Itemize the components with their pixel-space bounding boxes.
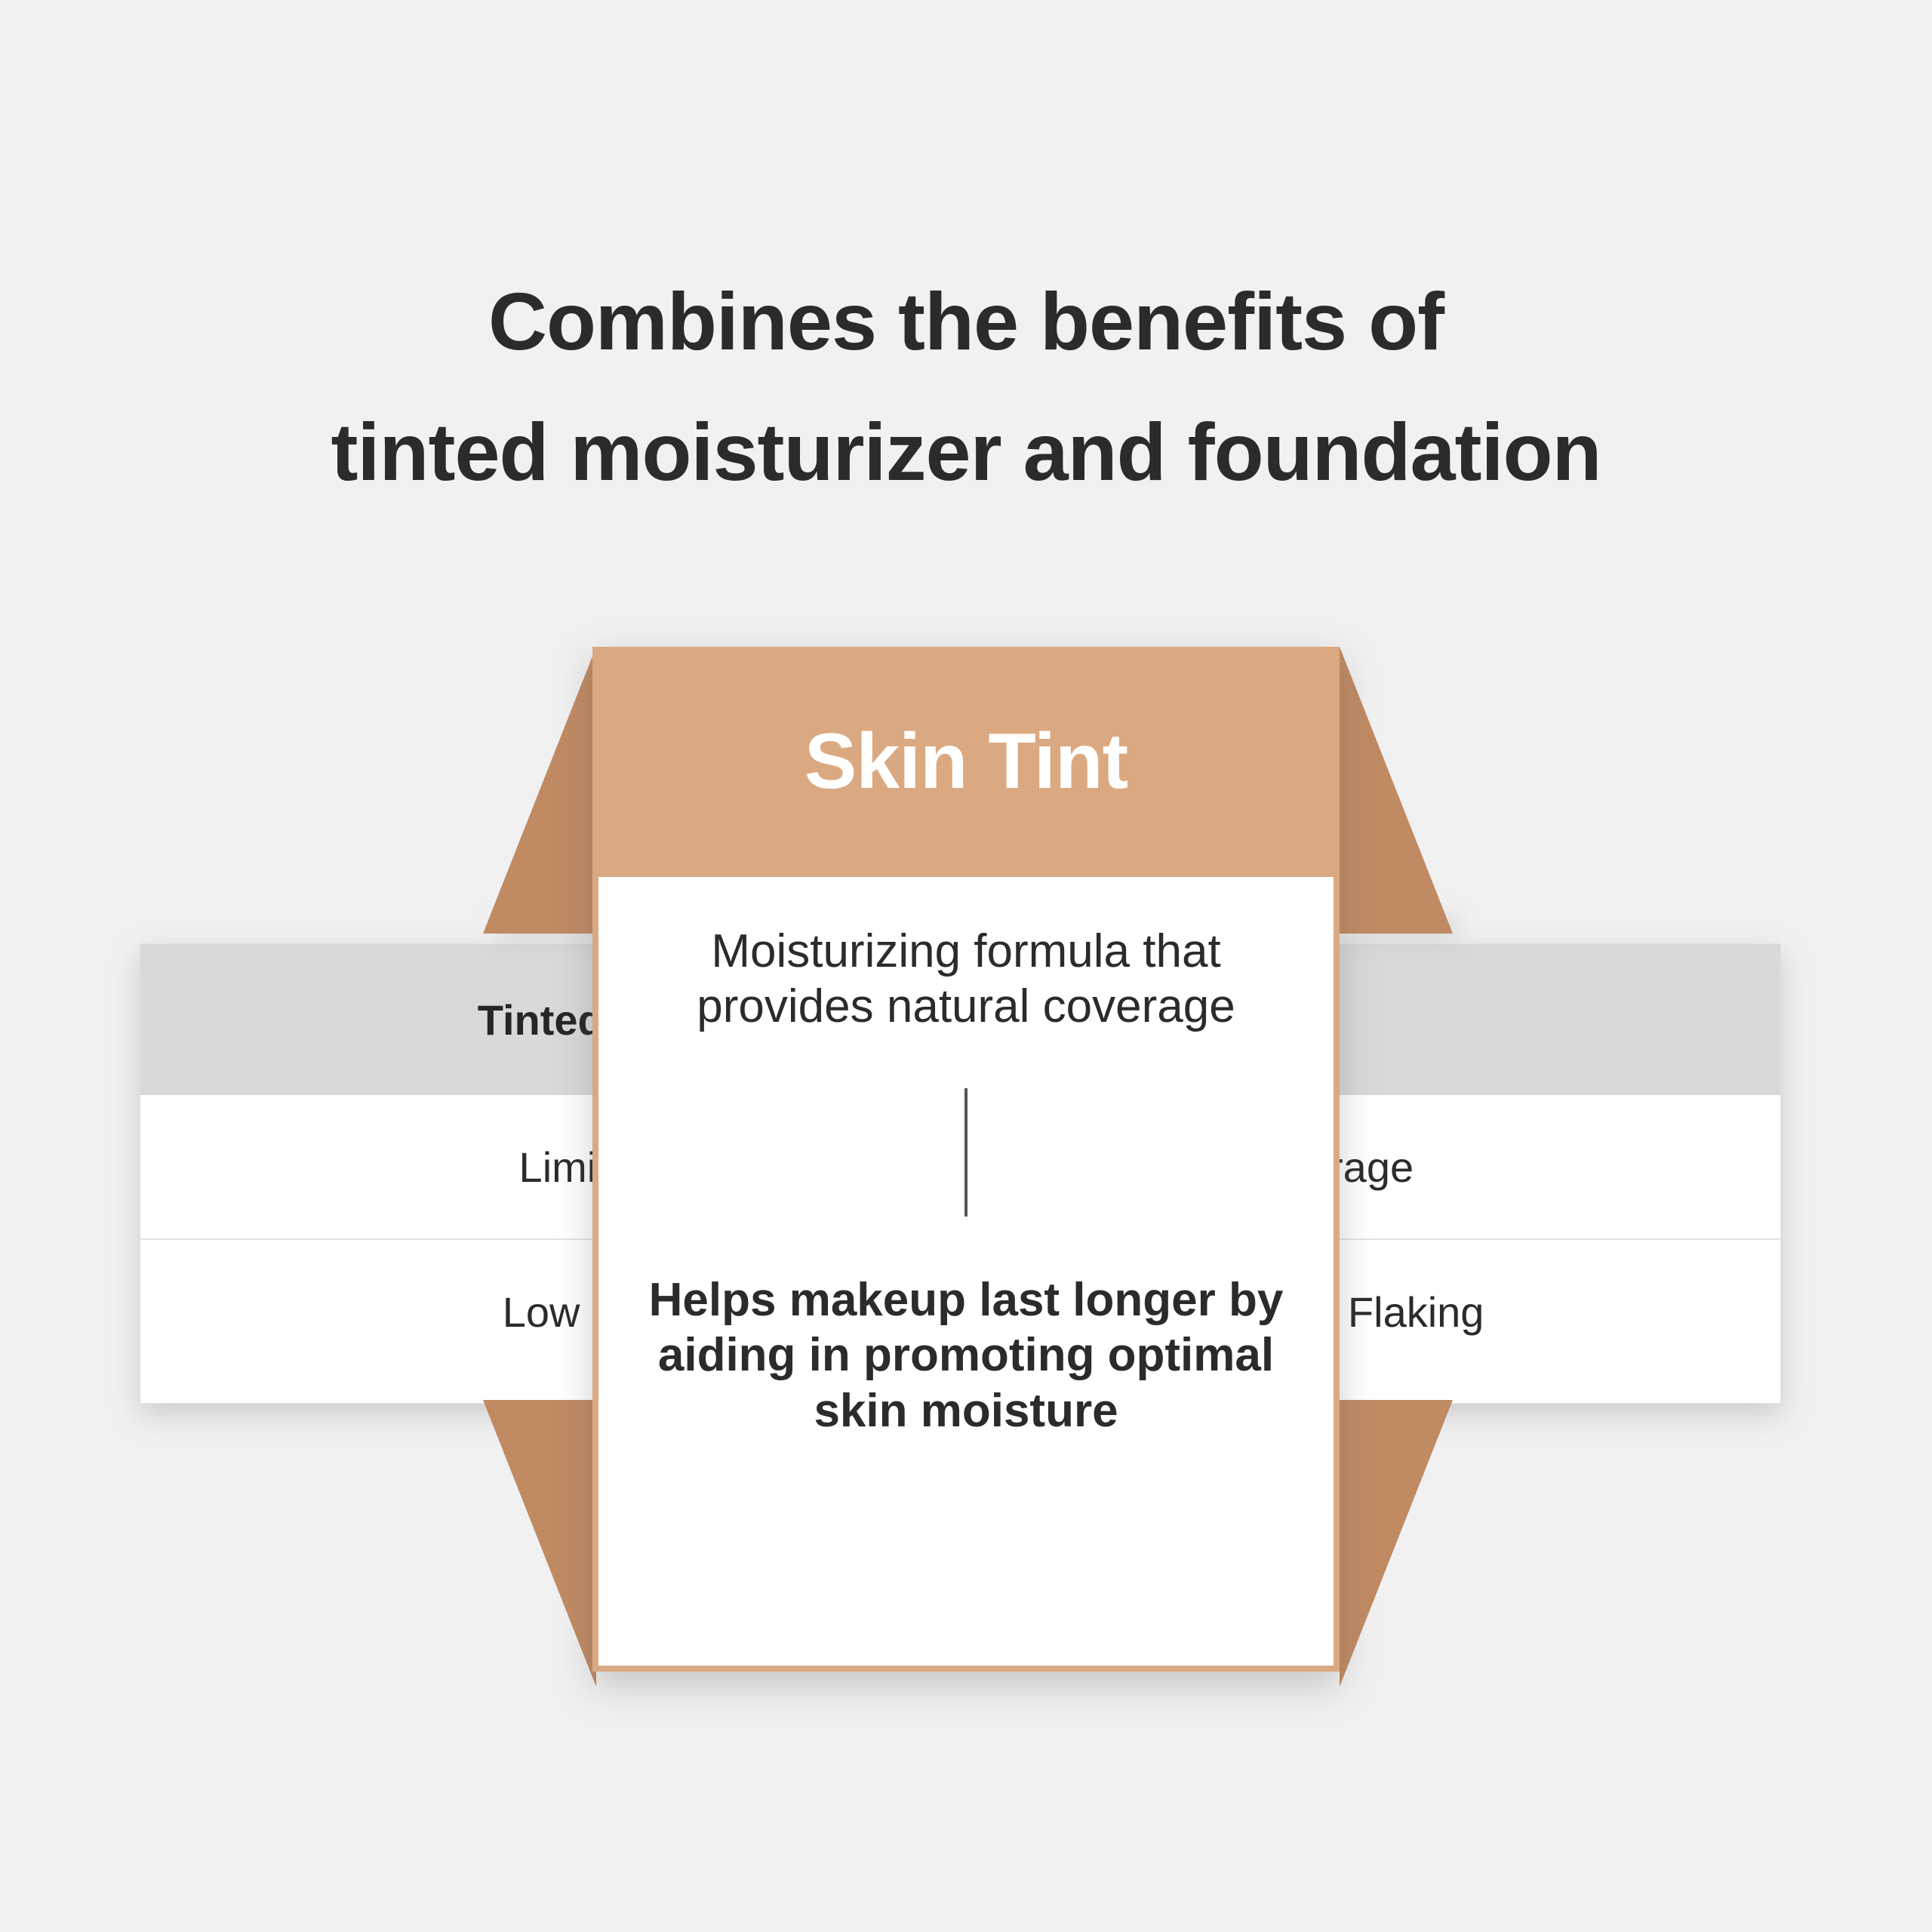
table-row: Limited coverage (140, 1095, 599, 1238)
card-skin-tint-bold-text: Helps makeup last longer by aiding in pr… (634, 1272, 1298, 1438)
card-foundation-row-0: Heavy Coverage (1332, 1143, 1414, 1192)
card-tinted-moisturizer: Tinted Moisturizer Limited coverage Low … (140, 943, 600, 1404)
card-skin-tint-header-label: Skin Tint (804, 717, 1128, 807)
infographic-canvas: Combines the benefits of tinted moisturi… (0, 0, 1932, 1932)
vertical-divider (964, 1088, 968, 1217)
table-row: Low lasting power (140, 1238, 599, 1383)
card-foundation-row-1: Dryness and Flaking (1332, 1287, 1484, 1337)
page-title: Combines the benefits of tinted moisturi… (0, 257, 1932, 518)
card-skin-tint: Skin Tint Moisturizing formula that prov… (592, 647, 1340, 1672)
wing-bottom-left-icon (483, 1400, 596, 1687)
card-tinted-moisturizer-header: Tinted Moisturizer (140, 944, 599, 1095)
wing-top-left-icon (483, 647, 596, 934)
card-skin-tint-lead-text: Moisturizing formula that provides natur… (634, 924, 1298, 1034)
table-row: Heavy Coverage (1333, 1095, 1780, 1238)
card-tinted-moisturizer-row-0: Limited coverage (519, 1143, 600, 1192)
card-skin-tint-header: Skin Tint (592, 647, 1340, 877)
card-foundation: Foundation Heavy Coverage Dryness and Fl… (1332, 943, 1781, 1404)
card-tinted-moisturizer-row-1: Low lasting power (503, 1287, 600, 1337)
card-skin-tint-body: Moisturizing formula that provides natur… (598, 877, 1334, 1666)
wing-bottom-right-icon (1340, 1400, 1453, 1687)
page-title-line-2: tinted moisturizer and foundation (0, 387, 1932, 518)
page-title-line-1: Combines the benefits of (0, 257, 1932, 387)
card-tinted-moisturizer-header-label: Tinted Moisturizer (478, 995, 600, 1044)
card-foundation-header: Foundation (1333, 944, 1780, 1095)
table-row: Dryness and Flaking (1333, 1238, 1780, 1383)
wing-top-right-icon (1340, 647, 1453, 934)
